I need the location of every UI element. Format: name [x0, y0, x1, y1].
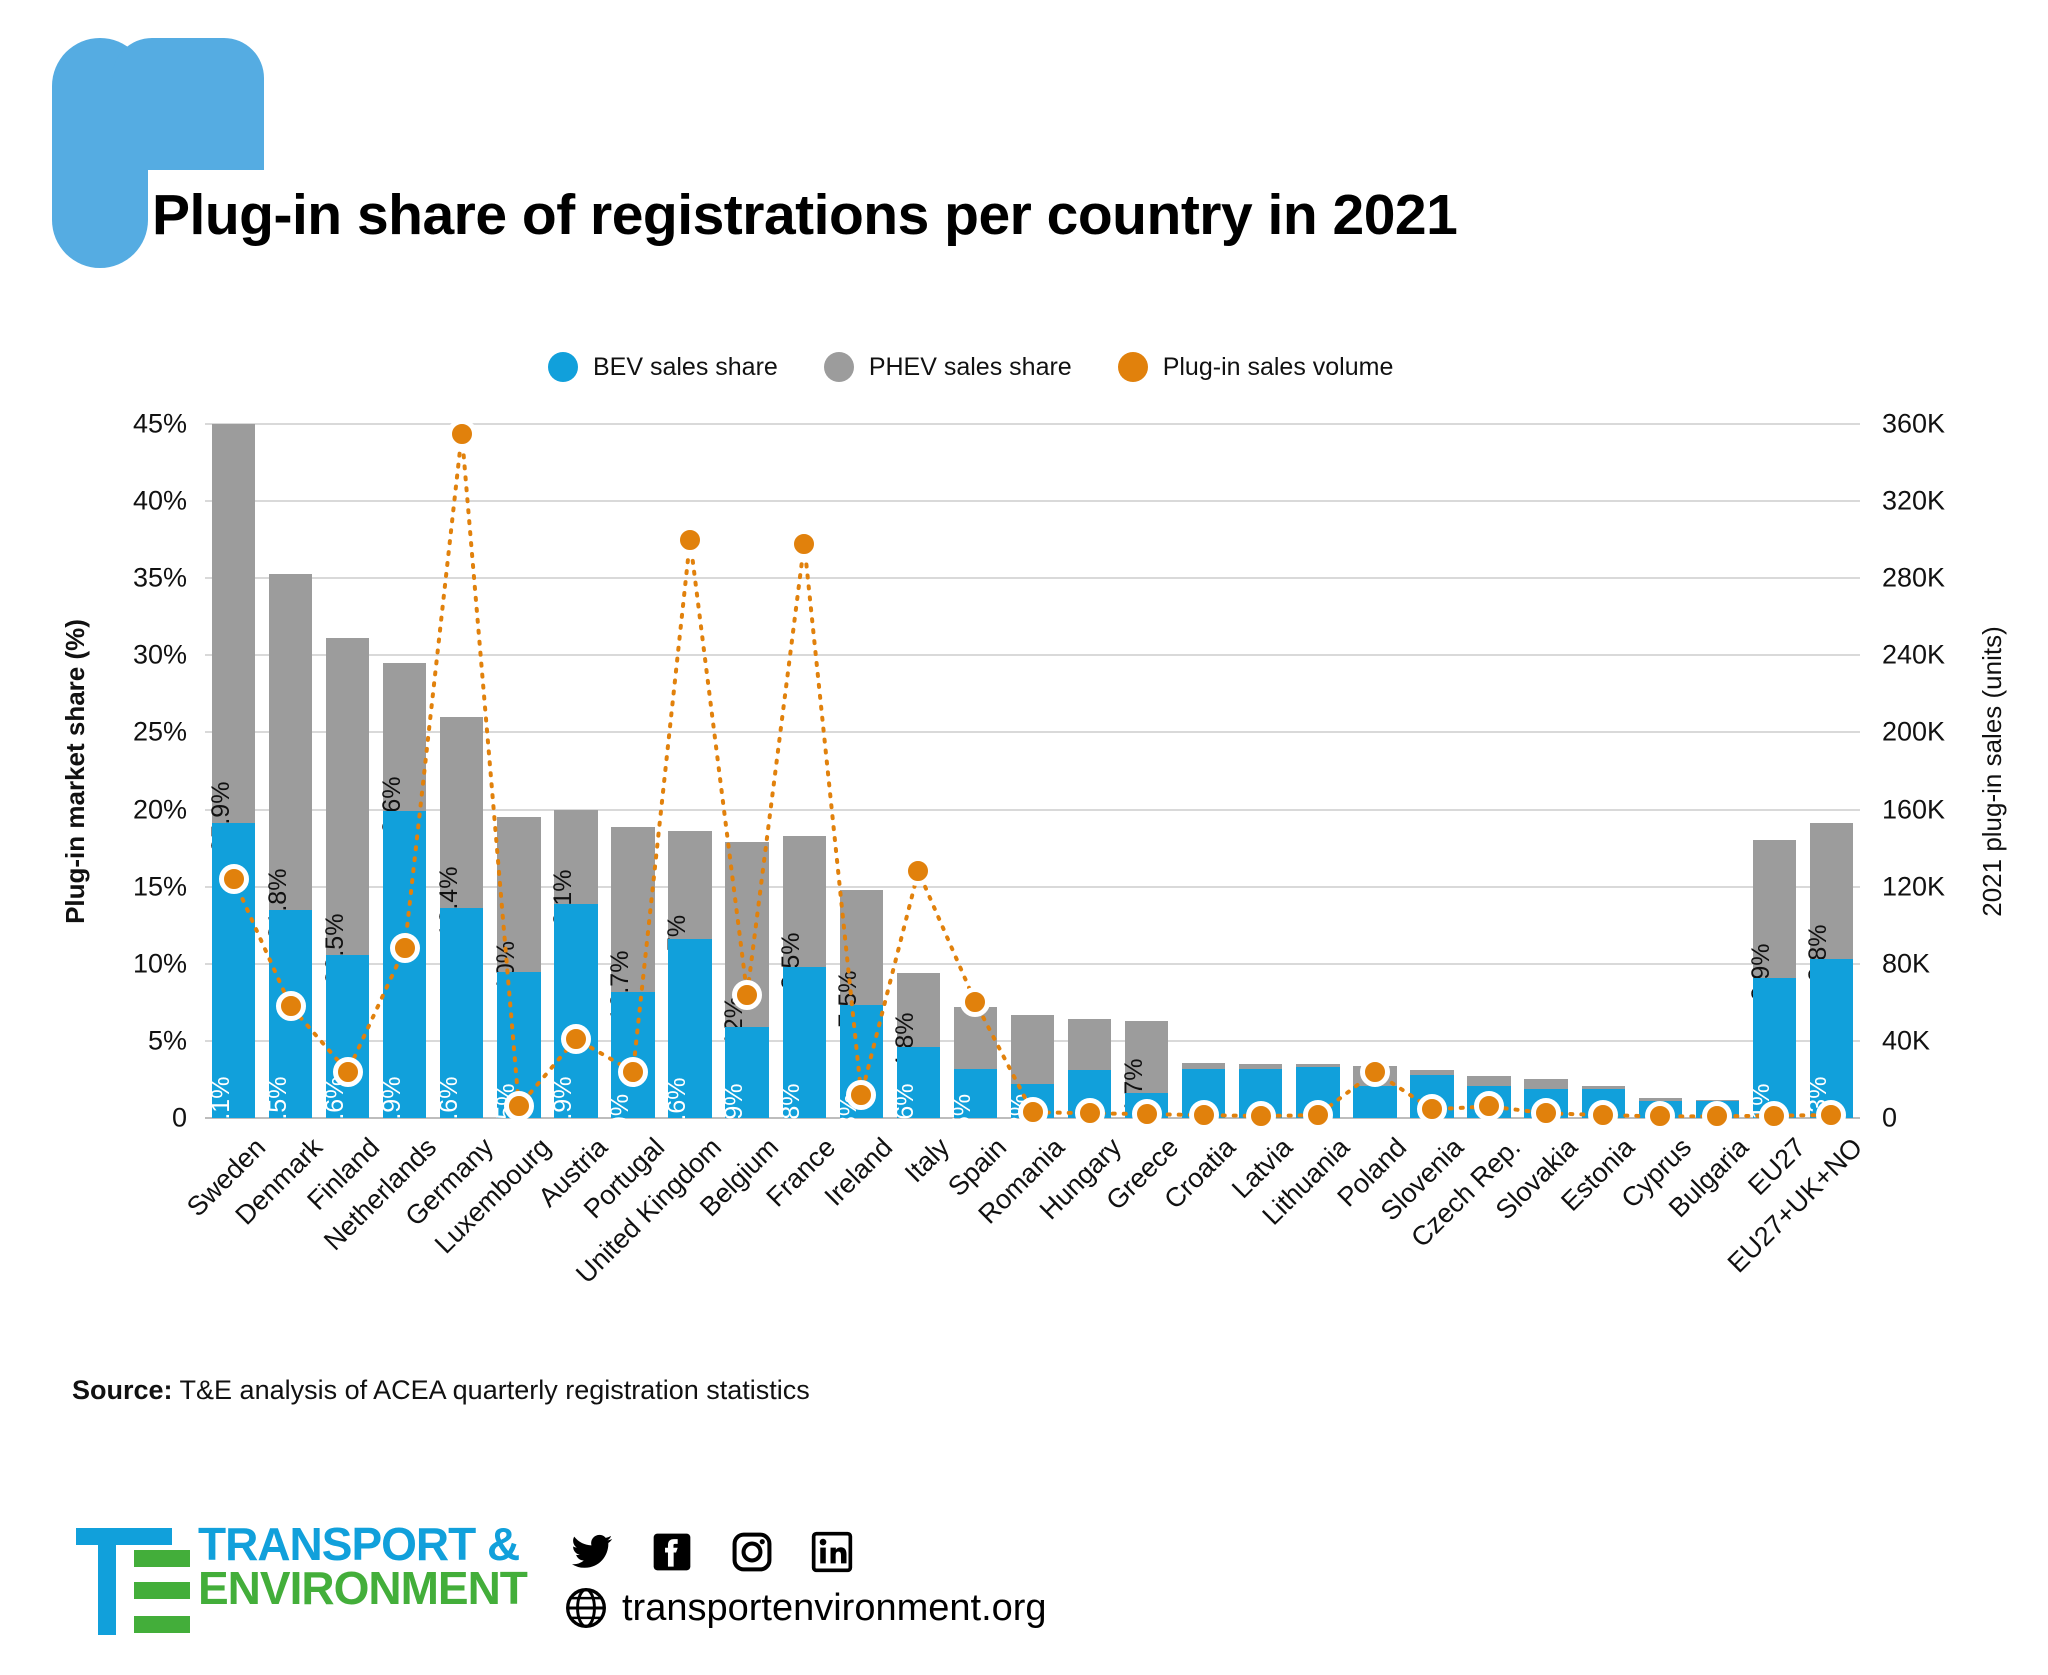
bar-column[interactable]: 2% — [1011, 1015, 1054, 1118]
bar-column[interactable] — [1696, 1100, 1739, 1118]
social-links: transportenvironment.org — [564, 1530, 1047, 1630]
bar-segment-bev[interactable] — [1182, 1069, 1225, 1118]
legend-item-phev[interactable]: PHEV sales share — [824, 352, 1072, 382]
bar-segment-phev[interactable]: 4.8% — [897, 973, 940, 1047]
logo-t-stem — [98, 1545, 116, 1635]
legend-label-bev: BEV sales share — [593, 353, 778, 382]
bar-column[interactable]: 4.8%4.6% — [897, 973, 940, 1118]
bar-segment-bev[interactable] — [1125, 1093, 1168, 1118]
y-axis-tick-left: 30% — [133, 640, 205, 671]
bar-segment-bev[interactable] — [1410, 1075, 1453, 1118]
bar-column[interactable] — [1239, 1064, 1282, 1118]
bar-segment-bev[interactable] — [1239, 1069, 1282, 1118]
y-axis-tick-left: 5% — [148, 1025, 205, 1056]
bar-segment-bev[interactable]: 4.6% — [897, 1047, 940, 1118]
bar-segment-bev[interactable]: 8% — [840, 1005, 883, 1118]
bar-segment-bev[interactable]: 10.3% — [1810, 959, 1853, 1118]
y-axis-tick-right: 360K — [1860, 409, 1945, 440]
bar-segment-phev[interactable]: 12% — [725, 842, 768, 1027]
bar-segment-bev[interactable] — [1524, 1089, 1567, 1118]
twitter-icon[interactable] — [570, 1530, 614, 1574]
bar-segment-bev[interactable]: 19.1% — [212, 823, 255, 1118]
bar-segment-phev[interactable]: 8.8% — [1810, 823, 1853, 959]
bar-segment-bev[interactable]: 5.9% — [725, 1027, 768, 1118]
bar-column[interactable] — [1296, 1064, 1339, 1118]
source-prefix: Source: — [72, 1375, 173, 1405]
bar-segment-phev[interactable] — [1467, 1076, 1510, 1085]
bar-segment-bev[interactable]: 13.5% — [269, 910, 312, 1118]
bar-segment-phev[interactable]: 9.6% — [383, 663, 426, 811]
bar-segment-bev[interactable] — [1696, 1101, 1739, 1118]
y-axis-title-left: Plug-in market share (%) — [58, 424, 92, 1118]
logo-arm — [112, 38, 264, 170]
bar-column[interactable]: 10%9.5% — [497, 817, 540, 1118]
bar-segment-bev[interactable]: 10.6% — [326, 955, 369, 1118]
y-axis-tick-right: 160K — [1860, 794, 1945, 825]
logo-word-environment: ENVIRONMENT — [198, 1566, 527, 1610]
y-axis-tick-right: 240K — [1860, 640, 1945, 671]
bar-column[interactable]: 7%11.6% — [668, 831, 711, 1118]
globe-icon — [564, 1586, 608, 1630]
chart-plot-area: 05%10%15%20%25%30%35%40%45%040K80K120K16… — [205, 424, 1860, 1118]
bar-column[interactable]: 21.8%13.5% — [269, 574, 312, 1118]
legend-item-volume[interactable]: Plug-in sales volume — [1118, 352, 1394, 382]
legend-label-volume: Plug-in sales volume — [1163, 353, 1394, 382]
bar-segment-bev[interactable] — [1353, 1086, 1396, 1118]
bar-segment-bev[interactable]: 9.5% — [497, 972, 540, 1119]
logo-wordmark: TRANSPORT & ENVIRONMENT — [198, 1522, 527, 1610]
bar-segment-phev[interactable] — [1524, 1079, 1567, 1088]
y-axis-title-right: 2021 plug-in sales (units) — [1975, 424, 2009, 1118]
bar-segment-phev[interactable]: 8.5% — [783, 836, 826, 967]
y-axis-tick-left: 35% — [133, 563, 205, 594]
logo-e-top — [134, 1550, 190, 1567]
bar-segment-phev[interactable]: 20.5% — [326, 638, 369, 954]
bar-segment-phev[interactable] — [954, 1007, 997, 1069]
chart-legend: BEV sales share PHEV sales share Plug-in… — [548, 352, 1393, 382]
bar-column[interactable]: 7.5%8% — [840, 890, 883, 1118]
bar-column[interactable]: 25.9%19.1% — [212, 424, 255, 1118]
circle-icon — [548, 352, 578, 382]
logo-e-mid — [134, 1582, 190, 1599]
bar-column[interactable]: 6.1%13.9% — [554, 810, 597, 1118]
bar-column[interactable]: 4.7% — [1125, 1021, 1168, 1118]
bar-segment-phev[interactable]: 25.9% — [212, 424, 255, 823]
source-text: T&E analysis of ACEA quarterly registrat… — [173, 1375, 810, 1405]
bar-segment-phev[interactable]: 7% — [668, 831, 711, 939]
bar-segment-phev[interactable]: 21.8% — [269, 574, 312, 910]
bar-column[interactable] — [1068, 1019, 1111, 1118]
bar-segment-bev[interactable] — [1296, 1067, 1339, 1118]
bar-segment-bev[interactable] — [1582, 1089, 1625, 1118]
bar-column[interactable]: 5% — [954, 1007, 997, 1118]
bar-segment-phev[interactable] — [1068, 1019, 1111, 1070]
y-axis-tick-left: 20% — [133, 794, 205, 825]
circle-icon — [824, 352, 854, 382]
legend-item-bev[interactable]: BEV sales share — [548, 352, 778, 382]
transport-environment-logo: TRANSPORT & ENVIRONMENT — [76, 1520, 528, 1640]
y-axis-title-right-text: 2021 plug-in sales (units) — [1977, 626, 2008, 917]
bar-segment-bev[interactable]: 9.8% — [783, 967, 826, 1118]
bar-column[interactable]: 12%5.9% — [725, 842, 768, 1118]
bar-segment-phev[interactable]: 4.7% — [1125, 1021, 1168, 1093]
y-axis-tick-right: 320K — [1860, 486, 1945, 517]
bar-series-group: 25.9%19.1%21.8%13.5%20.5%10.6%9.6%19.9%1… — [205, 424, 1860, 1118]
bar-column[interactable] — [1353, 1066, 1396, 1118]
logo-t-bar — [76, 1528, 172, 1545]
bar-column[interactable]: 12.4%13.6% — [440, 717, 483, 1118]
y-axis-tick-left: 40% — [133, 486, 205, 517]
bar-column[interactable] — [1467, 1076, 1510, 1118]
y-axis-tick-left: 45% — [133, 409, 205, 440]
bar-segment-phev[interactable]: 12.4% — [440, 717, 483, 908]
bar-segment-bev[interactable]: 5% — [954, 1069, 997, 1118]
legend-label-phev: PHEV sales share — [869, 353, 1072, 382]
website-url[interactable]: transportenvironment.org — [622, 1587, 1047, 1630]
bar-segment-bev[interactable]: 9.1% — [1753, 978, 1796, 1118]
y-axis-tick-right: 120K — [1860, 871, 1945, 902]
y-axis-tick-right: 280K — [1860, 563, 1945, 594]
bar-segment-phev[interactable]: 8.9% — [1753, 840, 1796, 977]
bar-segment-bev[interactable]: 9% — [611, 992, 654, 1118]
social-icon-row — [564, 1530, 1047, 1574]
x-axis-tick-labels: SwedenDenmarkFinlandNetherlandsGermanyLu… — [205, 1122, 1860, 1362]
bar-segment-phev[interactable]: 6.1% — [554, 810, 597, 904]
y-axis-tick-left: 10% — [133, 948, 205, 979]
y-axis-tick-right: 40K — [1860, 1025, 1930, 1056]
bar-segment-phev[interactable]: 10% — [497, 817, 540, 971]
bar-segment-phev[interactable] — [1011, 1015, 1054, 1084]
bar-segment-bev[interactable] — [1639, 1101, 1682, 1118]
bar-column[interactable]: 9.6%19.9% — [383, 663, 426, 1118]
linkedin-icon[interactable] — [810, 1530, 854, 1574]
bar-segment-phev[interactable]: 10.7% — [611, 827, 654, 992]
bar-column[interactable] — [1410, 1070, 1453, 1118]
y-axis-tick-right: 0 — [1860, 1103, 1897, 1134]
bar-segment-phev[interactable]: 7.5% — [840, 890, 883, 1006]
page-title: Plug-in share of registrations per count… — [152, 182, 1457, 248]
bar-segment-bev[interactable] — [1467, 1086, 1510, 1118]
logo-e-bottom — [134, 1616, 190, 1633]
facebook-icon[interactable] — [650, 1530, 694, 1574]
y-axis-title-left-text: Plug-in market share (%) — [60, 619, 91, 924]
y-axis-tick-left: 25% — [133, 717, 205, 748]
instagram-icon[interactable] — [730, 1530, 774, 1574]
bar-column[interactable]: 20.5%10.6% — [326, 638, 369, 1118]
bar-column[interactable]: 8.8%10.3% — [1810, 823, 1853, 1118]
bar-column[interactable] — [1582, 1086, 1625, 1118]
bar-segment-bev[interactable]: 13.6% — [440, 908, 483, 1118]
bar-column[interactable]: 10.7%9% — [611, 827, 654, 1118]
website-row: transportenvironment.org — [564, 1586, 1047, 1630]
bar-segment-bev[interactable]: 13.9% — [554, 904, 597, 1118]
bar-column[interactable] — [1639, 1098, 1682, 1118]
bar-column[interactable] — [1524, 1079, 1567, 1118]
source-note: Source: T&E analysis of ACEA quarterly r… — [72, 1375, 810, 1406]
circle-icon — [1118, 352, 1148, 382]
y-axis-tick-right: 200K — [1860, 717, 1945, 748]
bar-segment-bev[interactable]: 11.6% — [668, 939, 711, 1118]
y-axis-tick-right: 80K — [1860, 948, 1930, 979]
bar-segment-bev[interactable] — [1068, 1070, 1111, 1118]
logo-word-transport: TRANSPORT & — [198, 1522, 527, 1566]
bar-segment-phev[interactable] — [1353, 1066, 1396, 1086]
bar-column[interactable] — [1182, 1063, 1225, 1119]
bar-segment-bev[interactable]: 19.9% — [383, 811, 426, 1118]
footer: TRANSPORT & ENVIRONMENT transportenviron… — [76, 1520, 1047, 1640]
y-axis-tick-left: 0 — [172, 1103, 205, 1134]
bar-segment-bev[interactable]: 2% — [1011, 1084, 1054, 1118]
y-axis-tick-left: 15% — [133, 871, 205, 902]
bar-column[interactable]: 8.9%9.1% — [1753, 840, 1796, 1118]
bar-column[interactable]: 8.5%9.8% — [783, 836, 826, 1118]
